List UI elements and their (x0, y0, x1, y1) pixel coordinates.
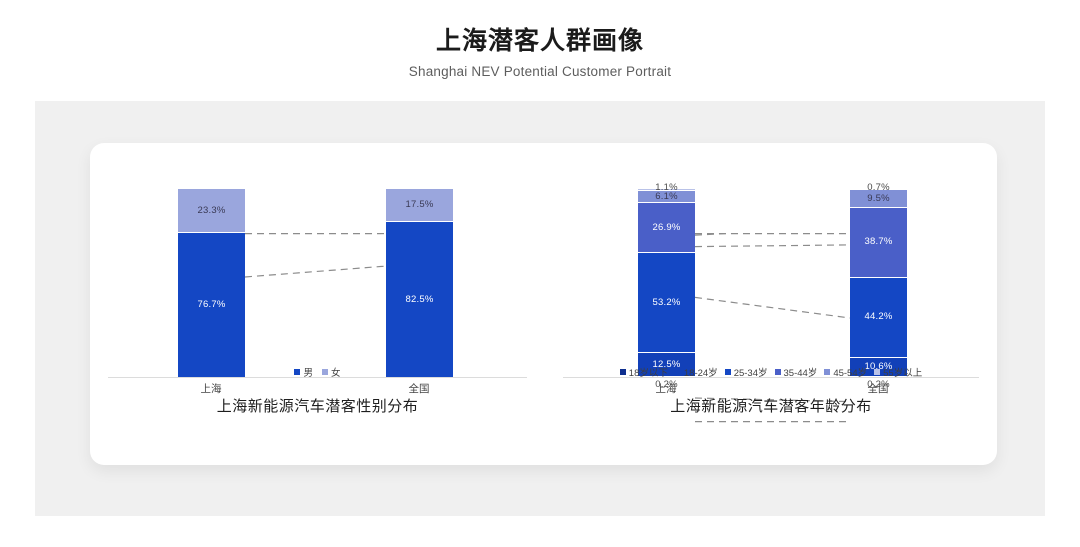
chart-gender-caption: 上海新能源汽车潜客性别分布 (90, 395, 545, 416)
page-subtitle: Shanghai NEV Potential Customer Portrait (0, 56, 1080, 79)
bar-age-national[interactable]: 0.2%10.6%44.2%38.7%9.5%0.7% (850, 188, 907, 377)
bar-segment-55岁以上[interactable]: 0.7% (850, 188, 907, 189)
category-label: 全国 (868, 381, 889, 396)
connector-line (695, 297, 850, 318)
bar-segment-label: 23.3% (198, 206, 226, 216)
connector-line (695, 233, 850, 235)
category-label: 全国 (409, 381, 430, 396)
legend-swatch-icon (725, 369, 731, 375)
bar-segment-label: 53.2% (653, 298, 681, 308)
chart-age-caption: 上海新能源汽车潜客年龄分布 (545, 395, 997, 416)
bar-gender-national[interactable]: 82.5%17.5% (386, 188, 453, 377)
legend-item-18-24岁[interactable]: 18-24岁 (675, 365, 718, 379)
legend-swatch-icon (294, 369, 300, 375)
legend-item-55岁以上[interactable]: 55岁以上 (874, 365, 922, 379)
bar-segment-女[interactable]: 17.5% (386, 188, 453, 221)
bar-segment-label: 76.7% (198, 300, 226, 310)
bar-age-shanghai[interactable]: 0.2%12.5%53.2%26.9%6.1%1.1% (638, 188, 695, 377)
chart-age-plot: 0.2%12.5%53.2%26.9%6.1%1.1% 0.2%10.6%44.… (545, 188, 997, 378)
legend-swatch-icon (775, 369, 781, 375)
legend-label: 35-44岁 (784, 365, 818, 379)
chart-gender-plot: 76.7%23.3% 82.5%17.5% (90, 188, 545, 378)
connector-line (695, 245, 850, 247)
legend-item-25-34岁[interactable]: 25-34岁 (725, 365, 768, 379)
legend-label: 女 (331, 365, 341, 379)
legend-swatch-icon (824, 369, 830, 375)
bar-segment-男[interactable]: 76.7% (178, 232, 245, 377)
chart-age-legend: 18岁以下18-24岁25-34岁35-44岁45-54岁55岁以上 (545, 365, 997, 379)
bar-segment-label: 0.7% (867, 183, 889, 193)
bar-segment-label: 17.5% (406, 200, 434, 210)
bar-gender-shanghai[interactable]: 76.7%23.3% (178, 188, 245, 377)
legend-label: 45-54岁 (833, 365, 867, 379)
bar-segment-label: 44.2% (865, 312, 893, 322)
bar-segment-25-34岁[interactable]: 53.2% (638, 252, 695, 352)
bar-segment-男[interactable]: 82.5% (386, 221, 453, 377)
bar-segment-label: 9.5% (867, 194, 889, 204)
bar-segment-女[interactable]: 23.3% (178, 188, 245, 232)
legend-label: 55岁以上 (883, 365, 922, 379)
bar-segment-label: 1.1% (655, 183, 677, 193)
page-header: 上海潜客人群画像 Shanghai NEV Potential Customer… (0, 0, 1080, 79)
legend-item-35-44岁[interactable]: 35-44岁 (775, 365, 818, 379)
legend-label: 男 (303, 365, 313, 379)
legend-item-男[interactable]: 男 (294, 365, 313, 379)
bar-segment-35-44岁[interactable]: 38.7% (850, 207, 907, 277)
page-title: 上海潜客人群画像 (0, 0, 1080, 56)
legend-item-18岁以下[interactable]: 18岁以下 (620, 365, 668, 379)
chart-gender-legend: 男女 (90, 365, 545, 379)
category-label: 上海 (656, 381, 677, 396)
legend-item-女[interactable]: 女 (322, 365, 341, 379)
bar-segment-label: 82.5% (406, 295, 434, 305)
bar-segment-55岁以上[interactable]: 1.1% (638, 188, 695, 190)
bar-segment-25-34岁[interactable]: 44.2% (850, 277, 907, 357)
chart-age: 0.2%12.5%53.2%26.9%6.1%1.1% 0.2%10.6%44.… (545, 143, 997, 465)
chart-gender: 76.7%23.3% 82.5%17.5% 上海 全国 男女 上海新能源汽车潜客… (90, 143, 545, 465)
legend-swatch-icon (874, 369, 880, 375)
bar-segment-label: 26.9% (653, 223, 681, 233)
bar-segment-label: 38.7% (865, 237, 893, 247)
connector-line (245, 266, 386, 277)
legend-item-45-54岁[interactable]: 45-54岁 (824, 365, 867, 379)
charts-container: 76.7%23.3% 82.5%17.5% 上海 全国 男女 上海新能源汽车潜客… (90, 143, 997, 465)
legend-swatch-icon (322, 369, 328, 375)
legend-label: 18岁以下 (629, 365, 668, 379)
legend-label: 18-24岁 (684, 365, 718, 379)
legend-label: 25-34岁 (734, 365, 768, 379)
category-label: 上海 (201, 381, 222, 396)
legend-swatch-icon (675, 369, 681, 375)
legend-swatch-icon (620, 369, 626, 375)
bar-segment-35-44岁[interactable]: 26.9% (638, 202, 695, 253)
